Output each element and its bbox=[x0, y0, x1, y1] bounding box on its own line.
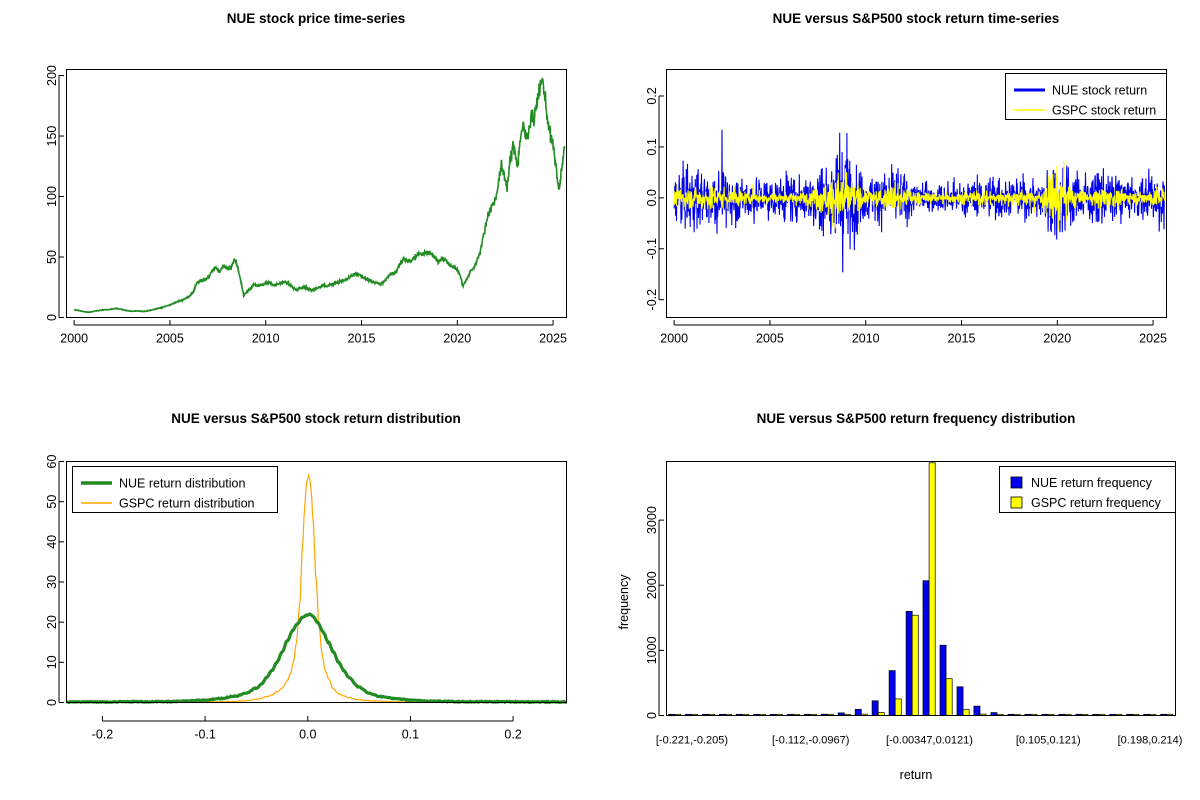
frequency-bar bbox=[872, 701, 878, 716]
frequency-x-tick-label: [-0.112,-0.0967) bbox=[772, 735, 849, 747]
panel-return-distribution: NUE versus S&P500 stock return distribut… bbox=[0, 400, 600, 800]
frequency-y-tick-label: 3000 bbox=[645, 506, 659, 534]
density-legend-label: NUE return distribution bbox=[119, 477, 245, 491]
frequency-bar bbox=[946, 679, 952, 716]
frequency-x-tick-label: [-0.00347,0.0121) bbox=[886, 735, 973, 747]
returns-x-tick-label: 2020 bbox=[1043, 332, 1071, 346]
returns-y-tick-label: 0.2 bbox=[645, 87, 659, 104]
returns-chart-svg: NUE versus S&P500 stock return time-seri… bbox=[600, 0, 1200, 400]
frequency-legend-label: NUE return frequency bbox=[1031, 476, 1153, 490]
price-series-group bbox=[74, 79, 564, 312]
density-legend[interactable]: NUE return distributionGSPC return distr… bbox=[73, 467, 278, 513]
returns-y-tick-label: 0.0 bbox=[645, 189, 659, 206]
frequency-legend-label: GSPC return frequency bbox=[1031, 496, 1162, 510]
panel-price-time-series: NUE stock price time-series 050100150200… bbox=[0, 0, 600, 400]
price-x-tick-label: 2020 bbox=[443, 332, 471, 346]
price-plot-box bbox=[67, 70, 567, 318]
price-x-tick-label: 2005 bbox=[156, 332, 184, 346]
frequency-bar bbox=[906, 611, 912, 715]
frequency-bar bbox=[895, 699, 901, 716]
price-chart-svg: NUE stock price time-series 050100150200… bbox=[0, 0, 600, 400]
frequency-chart-svg: NUE versus S&P500 return frequency distr… bbox=[600, 400, 1200, 800]
returns-x-tick-label: 2025 bbox=[1139, 332, 1167, 346]
density-x-tick-label: 0.0 bbox=[299, 728, 316, 742]
frequency-y-tick-label: 0 bbox=[645, 712, 659, 719]
density-x-axis: -0.2-0.10.00.10.2 bbox=[92, 716, 522, 742]
frequency-y-axis-title: frequency bbox=[617, 574, 631, 630]
frequency-legend-swatch bbox=[1011, 497, 1022, 508]
price-y-tick-label: 200 bbox=[45, 65, 59, 86]
price-x-tick-label: 2015 bbox=[348, 332, 376, 346]
frequency-x-axis: [-0.221,-0.205)[-0.112,-0.0967)[-0.00347… bbox=[656, 735, 1183, 747]
price-x-tick-label: 2000 bbox=[60, 332, 88, 346]
frequency-bar bbox=[923, 581, 929, 716]
density-y-tick-label: 10 bbox=[45, 655, 59, 669]
returns-series-group bbox=[674, 130, 1164, 273]
frequency-y-tick-label: 2000 bbox=[645, 571, 659, 599]
density-y-tick-label: 60 bbox=[45, 455, 59, 469]
price-y-tick-label: 50 bbox=[45, 250, 59, 264]
price-series-line bbox=[74, 79, 564, 312]
price-x-axis: 200020052010201520202025 bbox=[60, 320, 567, 346]
returns-x-tick-label: 2005 bbox=[756, 332, 784, 346]
frequency-y-axis: 0100020003000 bbox=[645, 506, 664, 719]
density-x-tick-label: -0.2 bbox=[92, 728, 114, 742]
frequency-bar bbox=[963, 710, 969, 716]
price-chart-title: NUE stock price time-series bbox=[227, 11, 406, 26]
price-x-tick-label: 2010 bbox=[252, 332, 280, 346]
returns-x-axis: 200020052010201520202025 bbox=[660, 320, 1167, 346]
price-x-tick-label: 2025 bbox=[539, 332, 567, 346]
plot-panel-grid: NUE stock price time-series 050100150200… bbox=[0, 0, 1200, 800]
frequency-bar bbox=[889, 671, 895, 716]
frequency-x-tick-label: [0.198,0.214) bbox=[1118, 735, 1183, 747]
returns-chart-title: NUE versus S&P500 stock return time-seri… bbox=[773, 11, 1060, 26]
returns-legend[interactable]: NUE stock returnGSPC stock return bbox=[1006, 74, 1167, 120]
frequency-legend[interactable]: NUE return frequencyGSPC return frequenc… bbox=[1000, 467, 1176, 513]
density-chart-title: NUE versus S&P500 stock return distribut… bbox=[171, 411, 461, 426]
frequency-bar bbox=[940, 645, 946, 715]
frequency-legend-swatch bbox=[1011, 477, 1022, 488]
price-y-tick-label: 100 bbox=[45, 186, 59, 207]
frequency-y-tick-label: 1000 bbox=[645, 636, 659, 664]
density-x-tick-label: 0.1 bbox=[402, 728, 419, 742]
density-y-tick-label: 0 bbox=[45, 699, 59, 706]
density-x-tick-label: 0.2 bbox=[504, 728, 521, 742]
frequency-chart-title: NUE versus S&P500 return frequency distr… bbox=[757, 411, 1076, 426]
frequency-bar bbox=[912, 615, 918, 715]
frequency-x-tick-label: [0.105,0.121) bbox=[1016, 735, 1081, 747]
price-y-tick-label: 0 bbox=[45, 314, 59, 321]
density-y-tick-label: 40 bbox=[45, 535, 59, 549]
returns-legend-label: NUE stock return bbox=[1052, 84, 1147, 98]
price-y-tick-label: 150 bbox=[45, 126, 59, 147]
frequency-bar bbox=[974, 706, 980, 715]
density-x-tick-label: -0.1 bbox=[194, 728, 216, 742]
frequency-bar bbox=[929, 463, 935, 716]
frequency-x-axis-title: return bbox=[900, 768, 933, 782]
returns-legend-label: GSPC stock return bbox=[1052, 104, 1156, 118]
density-nue-curve bbox=[67, 614, 567, 702]
returns-y-tick-label: 0.1 bbox=[645, 138, 659, 155]
density-y-tick-label: 30 bbox=[45, 575, 59, 589]
returns-x-tick-label: 2015 bbox=[948, 332, 976, 346]
returns-y-axis: -0.2-0.10.00.10.2 bbox=[645, 87, 664, 310]
density-y-tick-label: 50 bbox=[45, 495, 59, 509]
density-y-tick-label: 20 bbox=[45, 615, 59, 629]
returns-x-tick-label: 2010 bbox=[852, 332, 880, 346]
density-legend-label: GSPC return distribution bbox=[119, 497, 255, 511]
frequency-x-tick-label: [-0.221,-0.205) bbox=[656, 735, 728, 747]
density-chart-svg: NUE versus S&P500 stock return distribut… bbox=[0, 400, 600, 800]
returns-gspc-line bbox=[674, 160, 1164, 235]
price-y-axis: 050100150200 bbox=[45, 65, 64, 321]
returns-y-tick-label: -0.2 bbox=[645, 289, 659, 311]
returns-y-tick-label: -0.1 bbox=[645, 238, 659, 260]
density-y-axis: 0102030405060 bbox=[45, 455, 64, 706]
frequency-bar bbox=[855, 709, 861, 715]
frequency-bar bbox=[957, 687, 963, 716]
panel-return-frequency: NUE versus S&P500 return frequency distr… bbox=[600, 400, 1200, 800]
panel-return-time-series: NUE versus S&P500 stock return time-seri… bbox=[600, 0, 1200, 400]
returns-x-tick-label: 2000 bbox=[660, 332, 688, 346]
